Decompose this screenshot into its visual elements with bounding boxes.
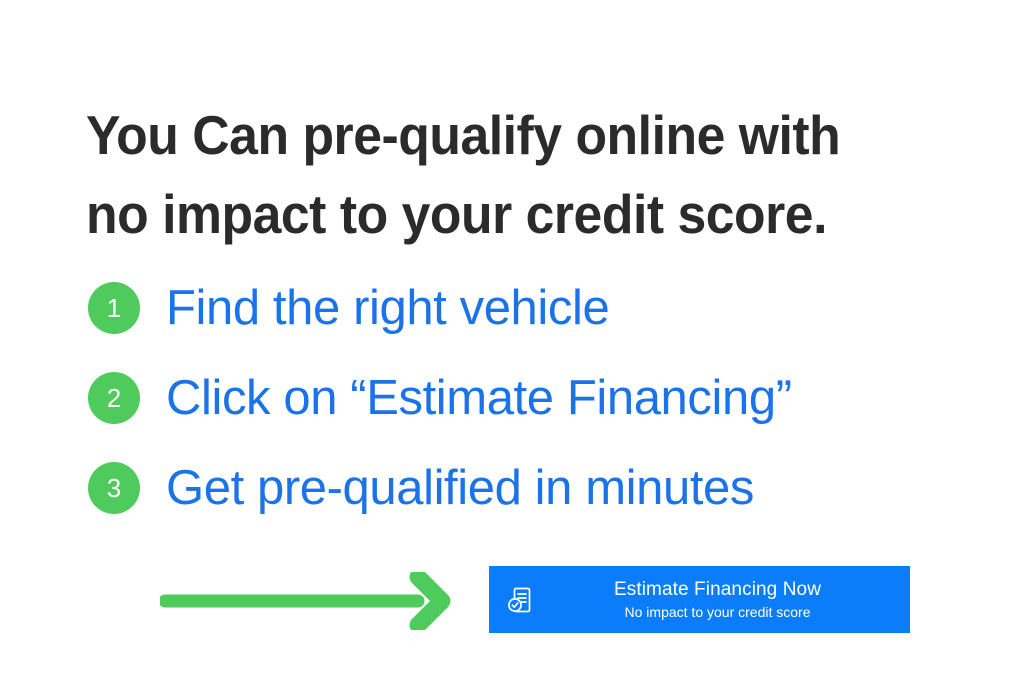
step-label-2: Click on “Estimate Financing” [166, 365, 792, 431]
promo-card: You Can pre-qualify online with no impac… [0, 0, 1024, 685]
cta-text-group: Estimate Financing Now No impact to your… [551, 578, 910, 622]
step-label-3: Get pre-qualified in minutes [166, 455, 754, 521]
list-item: 2 Click on “Estimate Financing” [88, 372, 948, 462]
arrow-right-icon [160, 572, 452, 630]
estimate-financing-button[interactable]: Estimate Financing Now No impact to your… [489, 566, 910, 633]
document-check-glyph [507, 586, 533, 614]
document-check-icon [489, 566, 551, 633]
list-item: 1 Find the right vehicle [88, 282, 948, 372]
list-item: 3 Get pre-qualified in minutes [88, 462, 948, 552]
step-number-badge-3: 3 [88, 462, 140, 514]
cta-subtitle: No impact to your credit score [625, 602, 811, 622]
cta-title: Estimate Financing Now [614, 578, 821, 602]
steps-list: 1 Find the right vehicle 2 Click on “Est… [88, 282, 948, 552]
step-number-badge-2: 2 [88, 372, 140, 424]
step-label-1: Find the right vehicle [166, 275, 609, 341]
page-title: You Can pre-qualify online with no impac… [86, 96, 913, 254]
step-number-badge-1: 1 [88, 282, 140, 334]
arrow-right-glyph [160, 572, 452, 630]
